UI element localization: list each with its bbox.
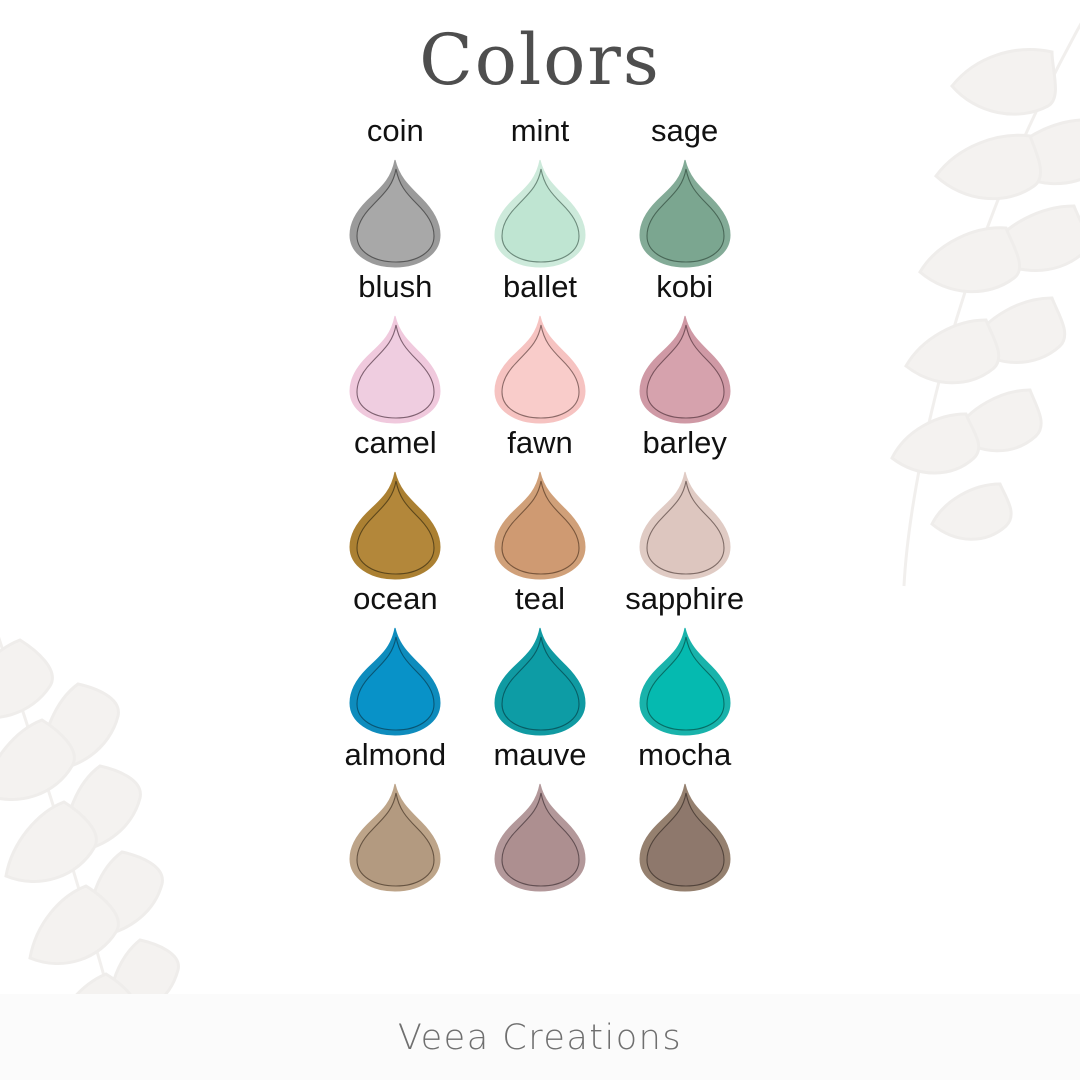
swatch-row: coin mint sage [325,115,755,271]
page-title: Colors [419,22,661,99]
swatch-label: sage [651,115,718,146]
teardrop-swatch-icon[interactable] [488,623,592,739]
swatch-row: camel fawn barley [325,427,755,583]
swatch-row: blush ballet kobi [325,271,755,427]
teardrop-swatch-icon[interactable] [343,623,447,739]
teardrop-swatch-icon[interactable] [633,155,737,271]
teardrop-swatch-icon[interactable] [343,467,447,583]
swatch-label: blush [358,271,432,302]
teardrop-swatch-icon[interactable] [488,311,592,427]
brand-footer: Veea Creations [0,1018,1080,1058]
swatch-label: ballet [503,271,577,302]
swatch-cell[interactable]: coin [325,115,466,271]
swatch-cell[interactable]: camel [325,427,466,583]
swatch-label: sapphire [625,583,744,614]
swatch-cell[interactable]: blush [325,271,466,427]
teardrop-swatch-icon[interactable] [488,779,592,895]
teardrop-swatch-icon[interactable] [343,155,447,271]
swatch-label: ocean [353,583,437,614]
swatch-cell[interactable]: sage [614,115,755,271]
swatch-cell[interactable]: mauve [470,739,611,895]
swatch-cell[interactable]: ballet [470,271,611,427]
teardrop-swatch-icon[interactable] [633,467,737,583]
color-chart-page: Colors coin mint [0,0,1080,1080]
swatch-label: mocha [638,739,731,770]
swatch-label: coin [367,115,424,146]
swatch-cell[interactable]: sapphire [614,583,755,739]
swatch-cell[interactable]: barley [614,427,755,583]
swatch-label: teal [515,583,565,614]
teardrop-swatch-icon[interactable] [343,779,447,895]
teardrop-swatch-icon[interactable] [488,155,592,271]
swatch-row: almond mauve mocha [325,739,755,895]
swatch-label: mauve [493,739,586,770]
swatch-cell[interactable]: kobi [614,271,755,427]
swatch-label: almond [344,739,446,770]
teardrop-swatch-icon[interactable] [633,623,737,739]
swatch-label: camel [354,427,437,458]
teardrop-swatch-icon[interactable] [488,467,592,583]
swatch-label: barley [642,427,726,458]
teardrop-swatch-icon[interactable] [633,779,737,895]
swatch-label: fawn [507,427,572,458]
teardrop-swatch-icon[interactable] [343,311,447,427]
swatch-cell[interactable]: mint [470,115,611,271]
swatch-label: mint [511,115,570,146]
teardrop-swatch-icon[interactable] [633,311,737,427]
swatch-cell[interactable]: mocha [614,739,755,895]
swatch-row: ocean teal sapphire [325,583,755,739]
swatch-grid: coin mint sage [325,115,755,895]
swatch-cell[interactable]: ocean [325,583,466,739]
swatch-cell[interactable]: teal [470,583,611,739]
swatch-label: kobi [656,271,713,302]
swatch-cell[interactable]: fawn [470,427,611,583]
swatch-cell[interactable]: almond [325,739,466,895]
